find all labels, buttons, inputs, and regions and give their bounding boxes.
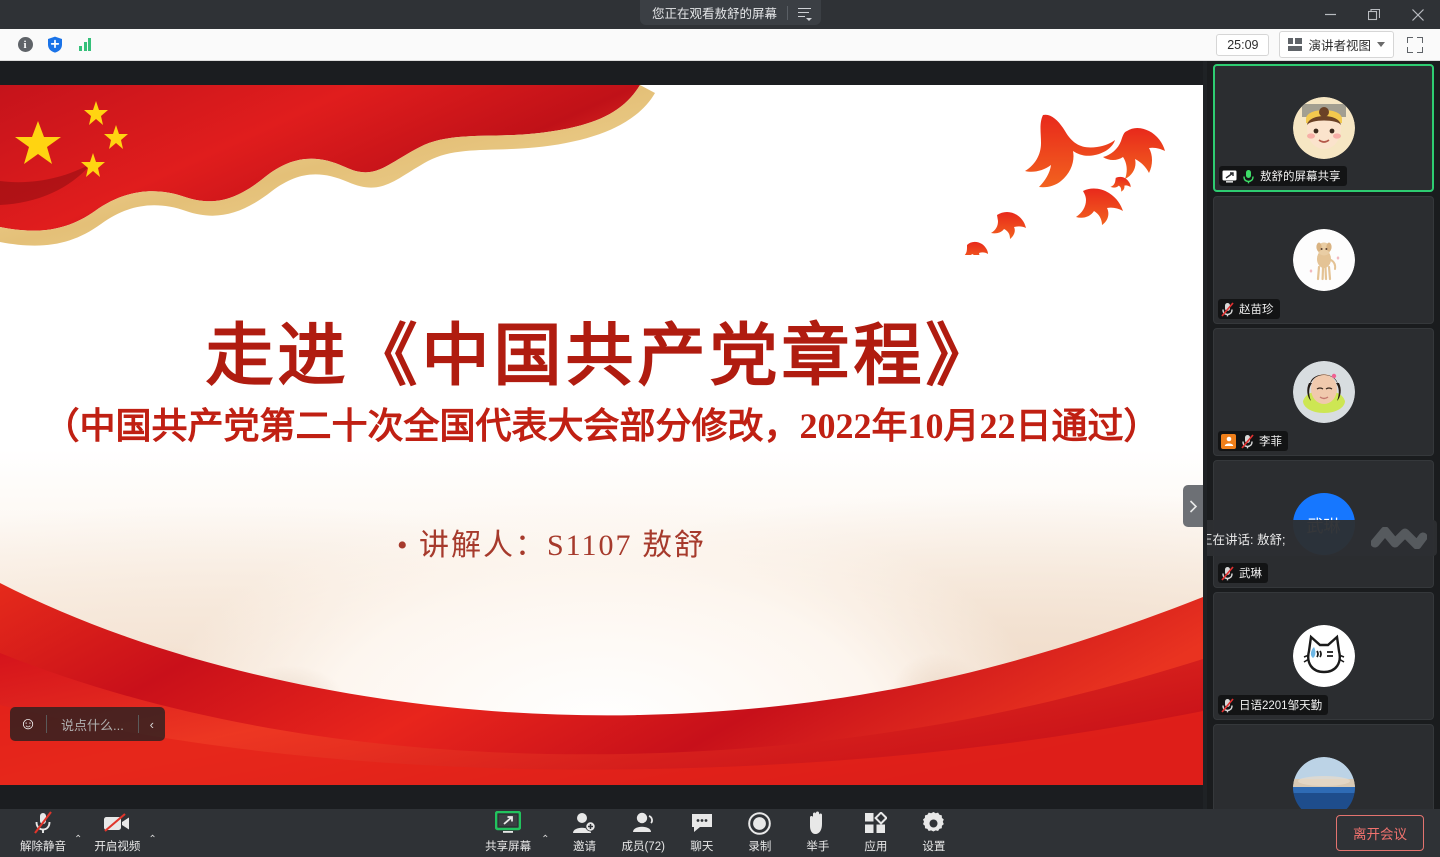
fullscreen-icon[interactable] [1404,34,1426,56]
record-label: 录制 [748,838,771,854]
start-video-label: 开启视频 [94,838,140,854]
start-video-button[interactable]: 开启视频 [88,809,146,857]
shield-plus-icon[interactable] [44,34,66,56]
chat-button[interactable]: 聊天 [675,809,729,857]
participants-icon [631,811,655,835]
collapse-panel-handle[interactable] [1183,485,1203,527]
view-mode-label: 演讲者视图 [1308,35,1371,54]
participant-tile[interactable]: 李菲 [1213,328,1434,456]
speaking-tooltip: 正在讲话: 敖舒; [1207,520,1437,556]
window-titlebar: 您正在观看敖舒的屏幕 [0,0,1440,29]
participant-nameplate: 武琳 [1218,563,1268,583]
slide-presenter-line: • 讲解人：S1107 敖舒 [0,520,1203,564]
red-ribbon-graphic [0,555,1203,785]
avatar [1293,97,1355,159]
participant-nameplate: 敖舒的屏幕共享 [1219,166,1347,186]
host-badge-icon [1221,434,1236,449]
raise-hand-button[interactable]: 举手 [791,809,845,857]
participant-nameplate: 日语2201邹天勤 [1218,695,1328,715]
avatar [1293,361,1355,423]
record-icon [748,811,771,835]
participant-name: 李菲 [1259,433,1282,449]
slide-title: 走进《中国共产党章程》 [0,300,1203,399]
mic-off-icon [33,811,53,835]
participant-tile[interactable]: 日语2201邹天勤 [1213,592,1434,720]
settings-button[interactable]: 设置 [907,809,961,857]
shared-screen-stage: 走进《中国共产党章程》 （中国共产党第二十次全国代表大会部分修改，2022年10… [0,61,1203,809]
gear-icon [922,811,945,835]
minimize-button[interactable] [1308,0,1352,29]
slide-subtitle: （中国共产党第二十次全国代表大会部分修改，2022年10月22日通过） [0,397,1203,449]
invite-button[interactable]: 邀请 [557,809,611,857]
participant-nameplate: 李菲 [1218,431,1288,451]
maximize-restore-button[interactable] [1352,0,1396,29]
share-banner-text: 您正在观看敖舒的屏幕 [652,3,777,22]
apps-button[interactable]: 应用 [849,809,903,857]
toolbar-center-group: 共享屏幕 ⌃ 邀请 [440,809,1000,857]
mic-on-icon [1242,169,1255,184]
unmute-button[interactable]: 解除静音 [14,809,72,857]
info-icon[interactable]: i [14,34,36,56]
participant-tile[interactable]: 敖舒的屏幕共享 [1213,64,1434,192]
chat-input-placeholder[interactable]: 说点什么... [47,715,138,734]
apps-icon [864,811,887,835]
unmute-label: 解除静音 [20,838,66,854]
speaking-tooltip-text: 正在讲话: 敖舒; [1207,529,1285,548]
chevron-left-icon[interactable]: ‹ [139,707,165,741]
participant-name: 赵苗珍 [1239,301,1274,317]
leave-meeting-button[interactable]: 离开会议 [1336,815,1424,851]
divider [787,6,788,20]
audio-options-chevron[interactable]: ⌃ [74,835,86,857]
share-screen-label: 共享屏幕 [485,838,531,854]
smiley-icon[interactable]: ☺ [10,707,46,741]
toolbar-right-group: 离开会议 [1336,815,1440,851]
meeting-timer: 25:09 [1216,34,1269,56]
view-mode-selector[interactable]: 演讲者视图 [1279,31,1394,58]
network-bars-icon[interactable] [74,34,96,56]
invite-label: 邀请 [573,838,596,854]
participants-button[interactable]: 成员(72) [615,809,670,857]
avatar [1293,229,1355,291]
video-off-icon [103,811,131,835]
presentation-slide: 走进《中国共产党章程》 （中国共产党第二十次全国代表大会部分修改，2022年10… [0,85,1203,785]
participant-name: 日语2201邹天勤 [1239,697,1322,713]
screen-share-banner[interactable]: 您正在观看敖舒的屏幕 [640,0,821,25]
invite-person-icon [572,811,596,835]
participant-tile[interactable]: 赵苗珍 [1213,196,1434,324]
floating-chat-bar[interactable]: ☺ 说点什么... ‹ [10,707,165,741]
mic-off-icon [1221,566,1234,581]
settings-label: 设置 [922,838,945,854]
hamburger-menu-icon[interactable] [798,8,811,18]
avatar [1293,625,1355,687]
secondary-toolbar: i 25:09 演讲者视图 [0,29,1440,61]
record-button[interactable]: 录制 [733,809,787,857]
meeting-toolbar: 解除静音 ⌃ 开启视频 ⌃ [0,809,1440,857]
chat-bubble-icon [690,811,714,835]
share-options-chevron[interactable]: ⌃ [541,835,553,857]
doves-graphic [955,95,1195,255]
participant-name: 敖舒的屏幕共享 [1260,168,1341,184]
raise-hand-label: 举手 [806,838,829,854]
layout-icon [1288,38,1302,51]
video-options-chevron[interactable]: ⌃ [148,835,160,857]
chat-label: 聊天 [690,838,713,854]
participant-rail[interactable]: 敖舒的屏幕共享 [1207,61,1440,809]
apps-label: 应用 [864,838,887,854]
screen-share-icon [1222,170,1237,183]
toolbar-left-group: 解除静音 ⌃ 开启视频 ⌃ [0,809,161,857]
chevron-down-icon [1377,42,1385,47]
chinese-flag-graphic [0,85,660,275]
window-controls [1308,0,1440,29]
audio-wave-icon [1371,527,1427,549]
participant-nameplate: 赵苗珍 [1218,299,1280,319]
share-screen-button[interactable]: 共享屏幕 [479,809,537,857]
mic-off-icon [1241,434,1254,449]
toolbar-right-controls: 25:09 演讲者视图 [1216,31,1432,58]
meeting-window: 您正在观看敖舒的屏幕 i [0,0,1440,857]
avatar [1293,757,1355,809]
participant-name: 武琳 [1239,565,1262,581]
toolbar-status-icons: i [8,34,96,56]
chevron-right-icon [1189,500,1198,513]
participants-label: 成员(72) [621,838,664,854]
share-screen-icon [495,811,521,835]
mic-off-icon [1221,302,1234,317]
participant-tile[interactable] [1213,724,1434,809]
mic-off-icon [1221,698,1234,713]
close-button[interactable] [1396,0,1440,29]
raise-hand-icon [807,811,829,835]
